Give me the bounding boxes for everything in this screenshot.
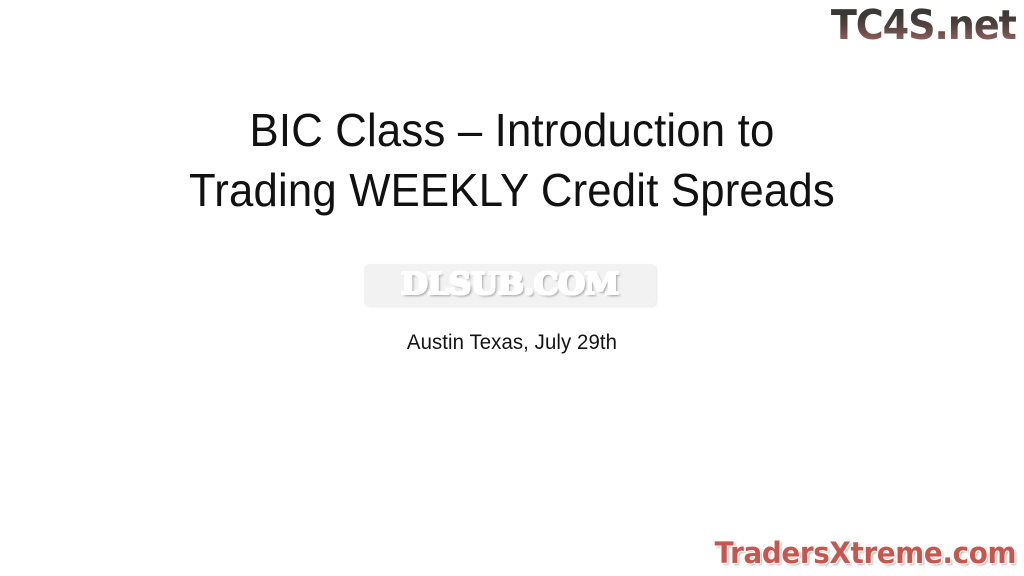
title-line-1: BIC Class – Introduction to — [26, 100, 999, 160]
tradersxtreme-watermark: TradersXtreme.com — [714, 536, 1016, 570]
slide-subtitle: Austin Texas, July 29th — [15, 330, 1008, 356]
dlsub-logo-text: DLSUB.COM — [401, 270, 619, 300]
dlsub-logo: DLSUB.COM — [364, 264, 656, 306]
tc4s-watermark: TC4S.net — [831, 2, 1016, 48]
slide-title: BIC Class – Introduction to Trading WEEK… — [0, 100, 1024, 220]
title-line-2: Trading WEEKLY Credit Spreads — [26, 160, 999, 220]
presentation-slide: TC4S.net BIC Class – Introduction to Tra… — [0, 0, 1024, 576]
